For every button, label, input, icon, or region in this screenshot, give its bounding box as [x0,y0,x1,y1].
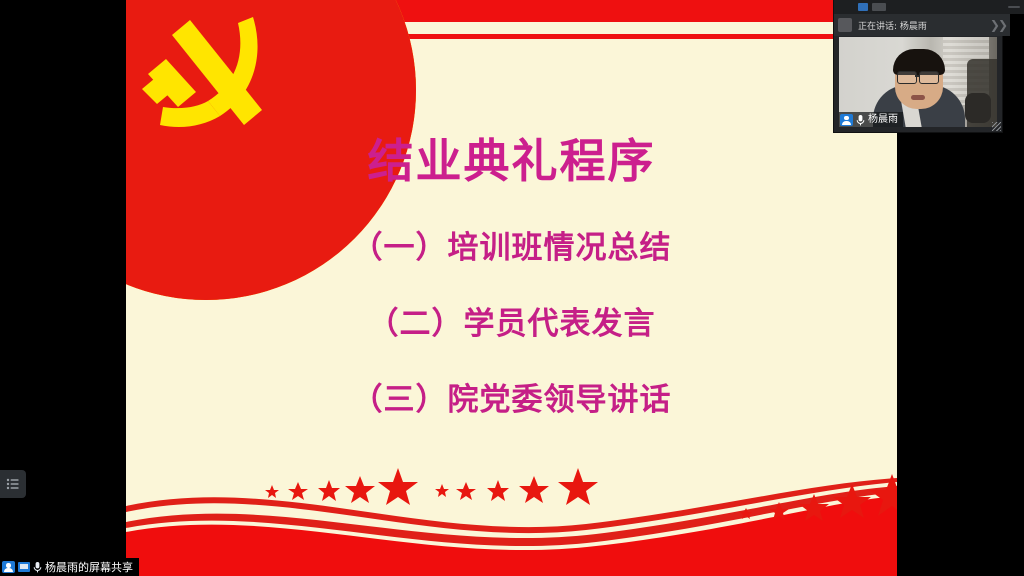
slide-bullet-2: （二）学员代表发言 [126,298,897,343]
slide-bullet-1: （一）培训班情况总结 [126,222,897,267]
video-foreground-object [965,93,991,123]
slide-bottom-decoration [126,446,897,576]
video-panel[interactable]: 正在讲话: 杨晨雨 ❯❯ 杨晨雨 [834,0,1002,132]
active-speaker-label: 正在讲话: 杨晨雨 [858,19,927,32]
slide-title: 结业典礼程序 [126,125,897,191]
side-menu-tab[interactable] [0,470,26,498]
participant-glasses-bridge [915,75,920,77]
participant-name-badge: 杨晨雨 [839,112,903,127]
video-panel-toolbar[interactable] [834,0,1024,14]
double-chevron-right-icon[interactable]: ❯❯ [990,19,1006,31]
person-icon [2,561,15,573]
participant-glasses-right [919,71,939,84]
slide-bullet-list: （一）培训班情况总结 （二）学员代表发言 （三）院党委领导讲话 [126,222,897,450]
presentation-slide: 结业典礼程序 （一）培训班情况总结 （二）学员代表发言 （三）院党委领导讲话 [126,0,897,576]
screen-share-label: 杨晨雨的屏幕共享 [45,562,133,573]
participant-video-tile[interactable]: 杨晨雨 [839,37,997,127]
left-gutter [0,0,126,576]
slide-bullet-3: （三）院党委领导讲话 [126,374,897,419]
toolbar-icon-layout[interactable] [872,3,886,11]
person-icon [840,114,853,126]
speaker-avatar [838,18,852,32]
participant-mouth [911,95,925,100]
toolbar-icon-view[interactable] [858,3,868,11]
list-menu-icon [6,477,20,491]
participant-name: 杨晨雨 [868,115,898,125]
toolbar-icon-minimize[interactable] [1008,6,1020,8]
screen-share-view: 结业典礼程序 （一）培训班情况总结 （二）学员代表发言 （三）院党委领导讲话 [0,0,1024,576]
screen-share-icon [18,562,30,572]
microphone-icon [33,561,42,573]
active-speaker-bar: 正在讲话: 杨晨雨 ❯❯ [834,14,1010,36]
panel-resize-handle[interactable] [992,122,1001,131]
participant-glasses-left [897,71,917,84]
microphone-icon [856,114,865,126]
screen-share-indicator[interactable]: 杨晨雨的屏幕共享 [0,558,139,576]
